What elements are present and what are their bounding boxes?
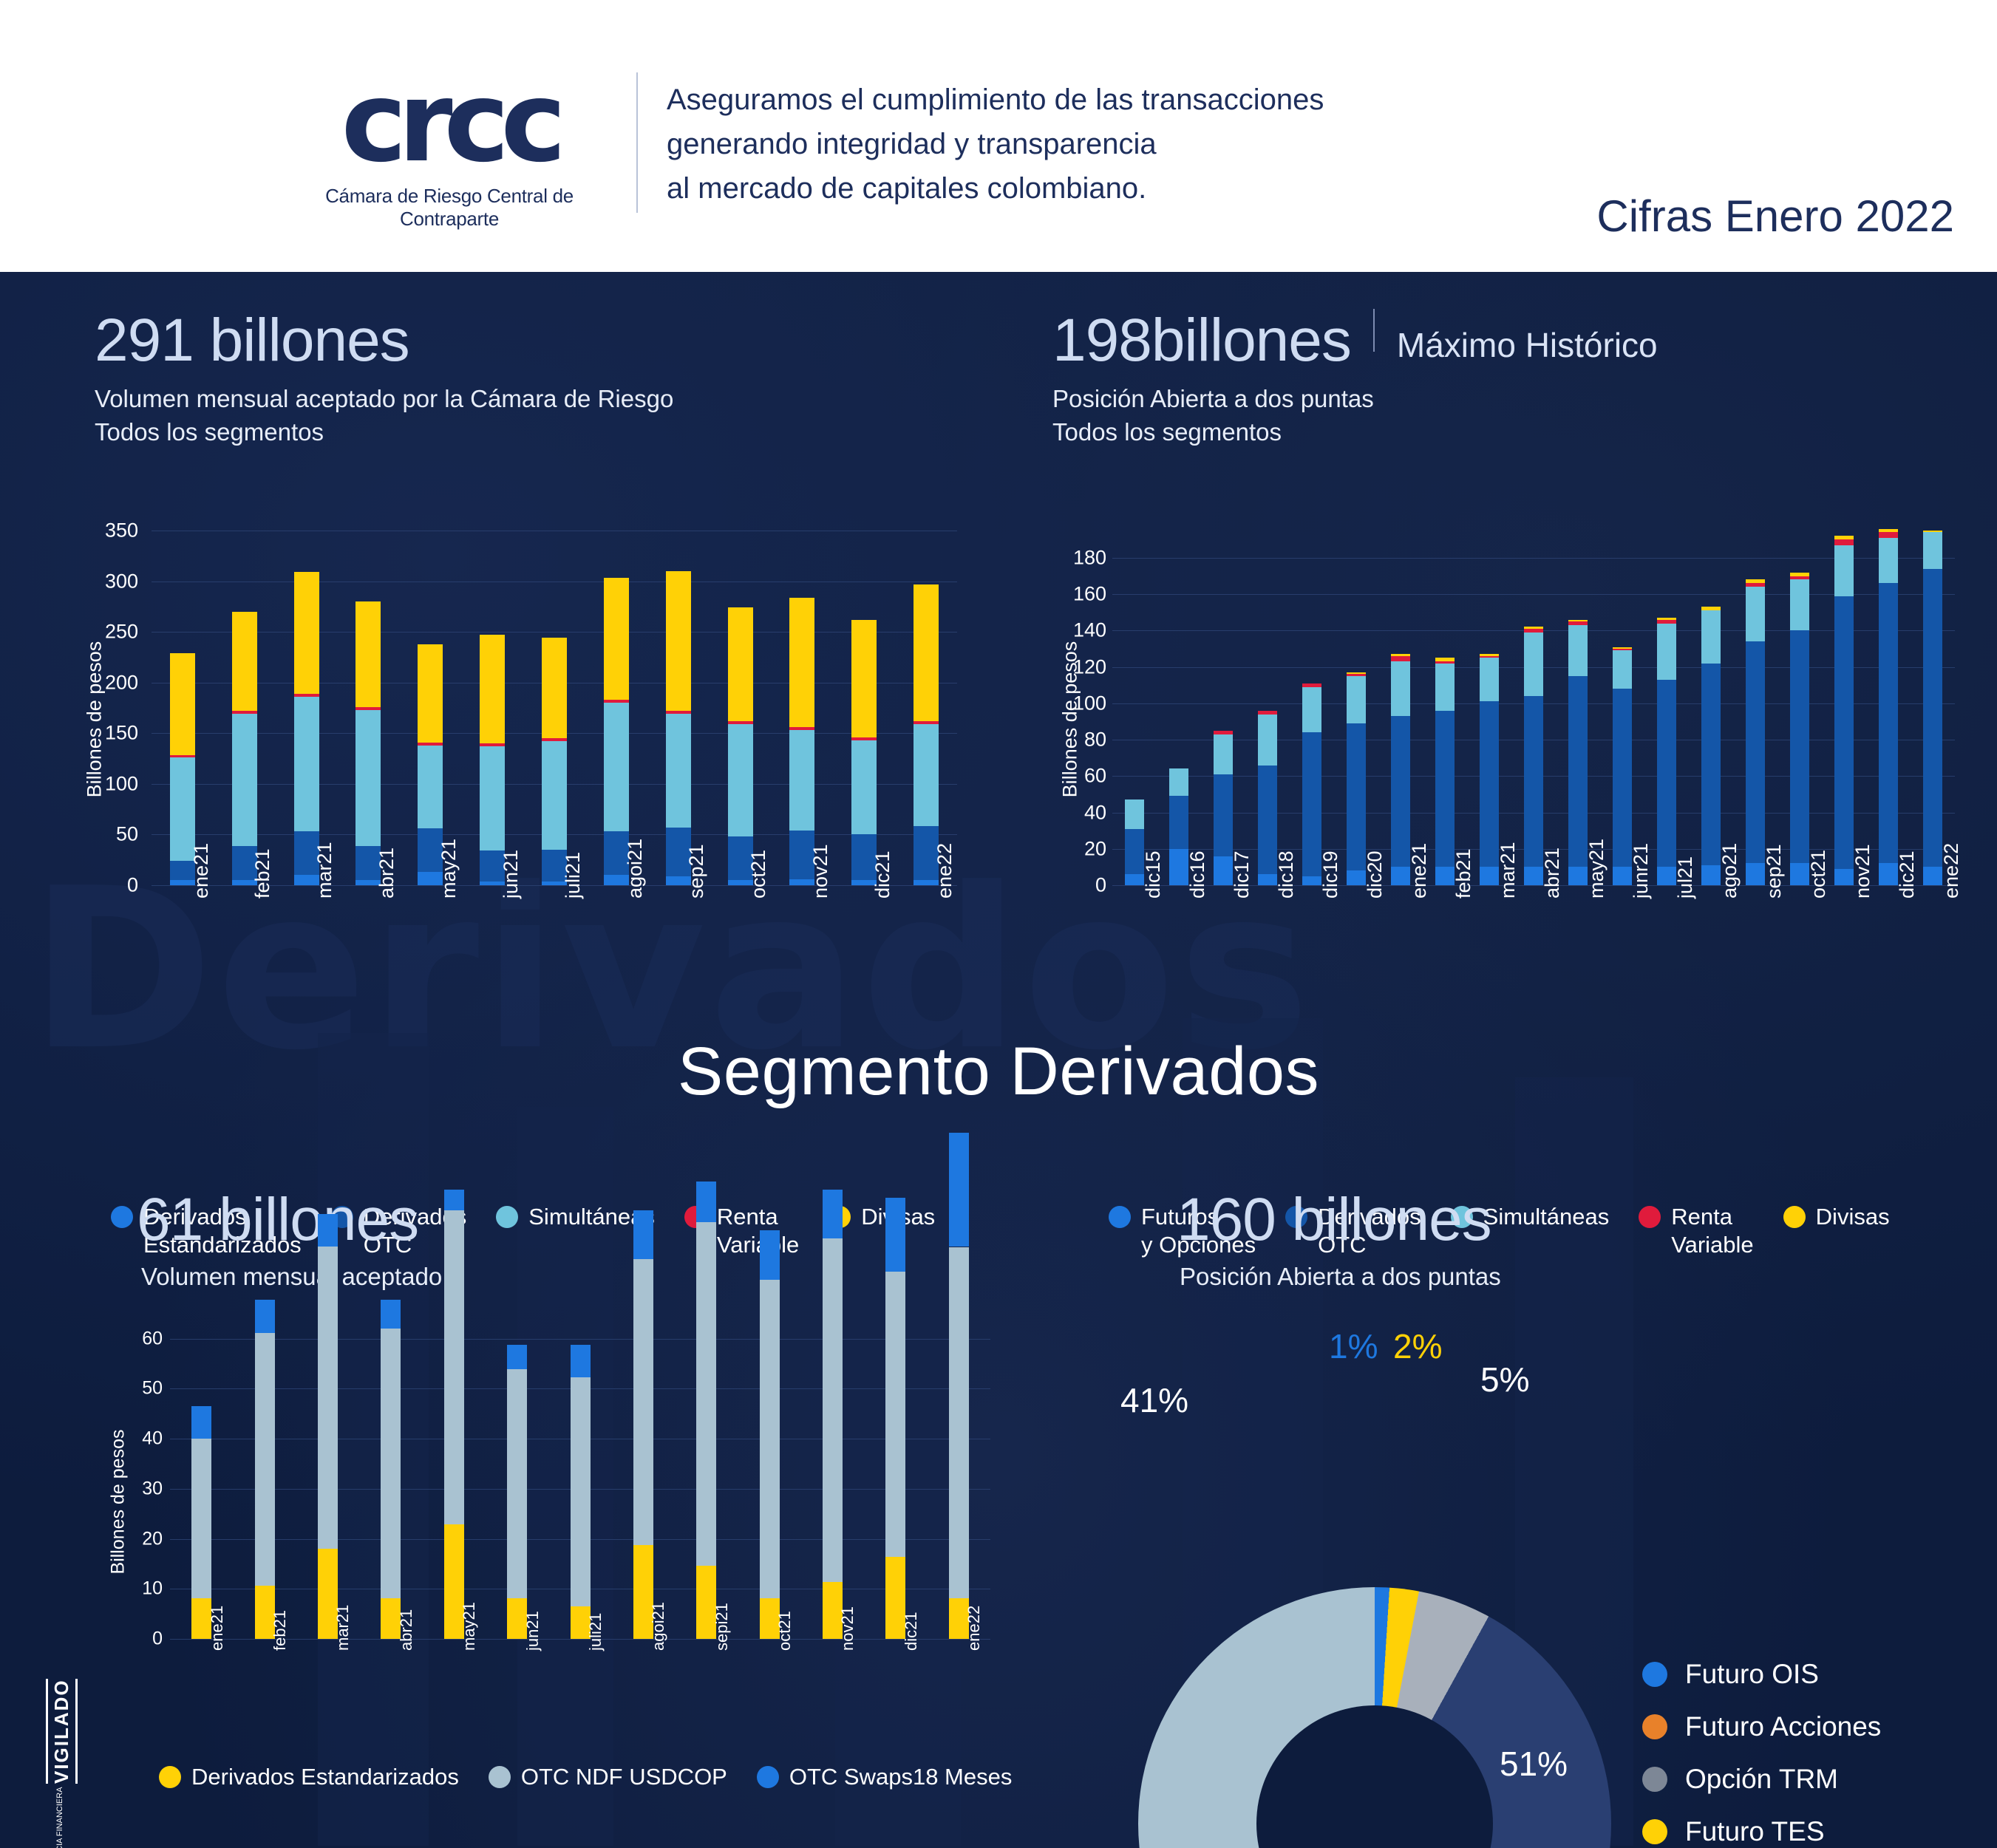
- vigilado-small-line-1: SUPERINTENDENCIA FINANCIERA: [55, 1787, 64, 1848]
- tagline-line-3: al mercado de capitales colombiano.: [667, 166, 1406, 211]
- legend-item[interactable]: Futuro OIS: [1642, 1657, 1931, 1691]
- x-axis-label: may21: [1585, 839, 1608, 899]
- bar-ene22: [914, 531, 939, 885]
- bar-segment: [381, 1300, 401, 1329]
- bar-segment: [728, 721, 753, 724]
- legend-swatch-icon: [757, 1766, 779, 1788]
- legend-swatch-icon: [1642, 1714, 1667, 1739]
- legend-item-label: Futuro Acciones: [1685, 1710, 1881, 1743]
- x-axis-label: ene22: [965, 1606, 984, 1651]
- x-axis-label: mar21: [1497, 842, 1520, 899]
- bar-segment: [885, 1272, 905, 1558]
- panel2-value: 198billones: [1052, 309, 1351, 372]
- bar-segment: [633, 1259, 653, 1545]
- bar-segment: [1834, 596, 1854, 869]
- bar-segment: [255, 1300, 275, 1332]
- legend-item[interactable]: Simultáneas: [496, 1203, 655, 1231]
- bar-segment: [318, 1214, 338, 1247]
- y-tick-label: 50: [116, 823, 138, 846]
- bar-segment: [542, 741, 567, 850]
- bar-dic15: [1125, 531, 1144, 885]
- header-divider: [636, 72, 638, 213]
- y-tick-label: 50: [142, 1378, 163, 1399]
- x-axis-label: feb21: [1452, 848, 1475, 899]
- bar-segment: [1258, 715, 1277, 766]
- x-axis-label: oct21: [775, 1611, 795, 1651]
- legend-swatch-icon: [1783, 1206, 1806, 1228]
- legend-item[interactable]: Opción TRM: [1642, 1762, 1931, 1796]
- bar-segment: [696, 1182, 716, 1222]
- chart-derivados-posicion-donut: [1138, 1587, 1611, 1848]
- legend-swatch-icon: [1109, 1206, 1131, 1228]
- legend-swatch-icon: [1639, 1206, 1661, 1228]
- bar-dic20: [1347, 531, 1366, 885]
- legend-swatch-icon: [489, 1766, 511, 1788]
- bar-segment: [294, 694, 319, 697]
- bar-segment: [1524, 633, 1543, 696]
- bar-feb21: [255, 1329, 275, 1639]
- bar-segment: [1480, 656, 1499, 658]
- x-axis-label: dic16: [1186, 850, 1209, 899]
- y-tick-label: 30: [142, 1478, 163, 1499]
- bar-segment: [1524, 629, 1543, 633]
- legend-item-label: Renta Variable: [717, 1203, 799, 1259]
- bar-segment: [1879, 529, 1898, 533]
- bar-segment: [851, 620, 877, 737]
- bar-segment: [418, 644, 443, 743]
- bar-segment: [1391, 661, 1410, 716]
- legend-item-label: Simultáneas: [1483, 1203, 1610, 1231]
- bar-segment: [1657, 624, 1676, 680]
- bar-segment: [666, 711, 691, 714]
- chart-posicion-abierta-todos-segmentos: Billones de pesos 0204060801001201401601…: [1020, 523, 1973, 937]
- bar-segment: [1125, 799, 1144, 828]
- panel2-badge: Máximo Histórico: [1397, 325, 1658, 365]
- x-axis-label: ene22: [1940, 843, 1963, 899]
- bar-segment: [294, 572, 319, 694]
- bar-segment: [760, 1230, 780, 1279]
- legend-item-label: Futuro OIS: [1685, 1657, 1819, 1691]
- legend-item-label: Derivados Estandarizados: [191, 1763, 459, 1791]
- bar-segment: [1790, 630, 1809, 863]
- bar-ene21: [170, 531, 195, 885]
- y-tick-label: 180: [1073, 546, 1106, 569]
- bar-segment: [1391, 656, 1410, 661]
- segment-title: Segmento Derivados: [0, 1033, 1997, 1111]
- bar-segment: [1879, 538, 1898, 584]
- header-tagline: Aseguramos el cumplimiento de las transa…: [667, 78, 1406, 211]
- x-axis-label: oct21: [747, 850, 770, 899]
- bar-segment: [1302, 683, 1321, 687]
- x-axis-label: nov21: [838, 1606, 857, 1651]
- legend-swatch-icon: [496, 1206, 518, 1228]
- bar-segment: [1435, 658, 1455, 661]
- bar-segment: [1701, 610, 1721, 663]
- bar-segment: [1568, 625, 1588, 676]
- bar-jul21: [1657, 531, 1676, 885]
- bar-oct21: [728, 531, 753, 885]
- y-tick-label: 60: [1084, 765, 1106, 788]
- y-tick-label: 300: [105, 570, 138, 593]
- x-axis-label: mar21: [333, 1605, 353, 1651]
- bar-may21: [1568, 531, 1588, 885]
- x-axis-label: dic20: [1364, 850, 1387, 899]
- gridline: [170, 1639, 990, 1640]
- bar-oct21: [1790, 531, 1809, 885]
- bar-segment: [728, 724, 753, 836]
- chart1-yaxis-title: Billones de pesos: [84, 616, 106, 823]
- vigilado-mark: SUPERINTENDENCIA FINANCIERA DE COLOMBIA …: [46, 1679, 78, 1848]
- panel2-sub-2: Todos los segmentos: [1052, 416, 1658, 449]
- x-axis-label: dic15: [1142, 850, 1165, 899]
- bar-nov21: [1834, 531, 1854, 885]
- bar-nov21: [789, 531, 814, 885]
- bar-ene22: [1923, 531, 1942, 885]
- legend-item[interactable]: Futuro TES: [1642, 1815, 1931, 1848]
- bar-segment: [666, 571, 691, 711]
- chart3-legend: Derivados EstandarizadosOTC NDF USDCOPOT…: [159, 1763, 1083, 1791]
- bar-mar21: [294, 531, 319, 885]
- y-tick-label: 20: [142, 1528, 163, 1549]
- bar-segment: [604, 700, 629, 703]
- y-tick-label: 200: [105, 671, 138, 694]
- x-axis-label: jun21: [500, 850, 523, 899]
- bar-segment: [507, 1345, 527, 1369]
- y-tick-label: 40: [1084, 801, 1106, 824]
- bar-segment: [1480, 654, 1499, 655]
- bar-abr21: [1524, 531, 1543, 885]
- bar-mar21: [318, 1329, 338, 1639]
- x-axis-label: juli21: [586, 1613, 605, 1651]
- bar-segment: [418, 746, 443, 828]
- tagline-line-2: generando integridad y transparencia: [667, 122, 1406, 166]
- bar-junr21: [1613, 531, 1632, 885]
- x-axis-label: abr21: [1541, 848, 1564, 899]
- x-axis-label: may21: [460, 1602, 479, 1651]
- bar-segment: [170, 653, 195, 756]
- x-axis-label: dic21: [871, 850, 894, 899]
- panel3-sub-1: Volumen mensual aceptado: [141, 1261, 442, 1294]
- bar-segment: [255, 1333, 275, 1586]
- bar-dic21: [1879, 531, 1898, 885]
- x-axis-label: abr21: [375, 848, 398, 899]
- bar-segment: [1746, 583, 1765, 587]
- x-axis-label: feb21: [271, 1610, 290, 1651]
- bar-segment: [604, 578, 629, 700]
- panel2-separator: [1373, 309, 1375, 352]
- bar-nov21: [823, 1329, 843, 1639]
- bar-dic18: [1258, 531, 1277, 885]
- bar-segment: [1657, 620, 1676, 624]
- y-tick-label: 80: [1084, 729, 1106, 751]
- bar-segment: [571, 1345, 591, 1377]
- bar-segment: [191, 1439, 211, 1598]
- bar-segment: [480, 746, 505, 850]
- x-axis-label: oct21: [1807, 850, 1830, 899]
- x-axis-label: nov21: [1851, 844, 1874, 899]
- x-axis-label: dic18: [1275, 850, 1298, 899]
- bar-mar21: [1480, 531, 1499, 885]
- legend-item[interactable]: OTC NDF USDCOP: [489, 1763, 727, 1791]
- bar-segment: [1923, 531, 1942, 532]
- bar-segment: [170, 755, 195, 757]
- chart2-yaxis-title: Billones de pesos: [1059, 616, 1082, 823]
- bar-segment: [1347, 676, 1366, 723]
- bar-sep21: [666, 531, 691, 885]
- y-tick-label: 100: [105, 772, 138, 795]
- bar-segment: [1347, 672, 1366, 674]
- bar-abr21: [381, 1329, 401, 1639]
- bar-dic16: [1169, 531, 1188, 885]
- tagline-line-1: Aseguramos el cumplimiento de las transa…: [667, 78, 1406, 122]
- donut-percent-label: 51%: [1500, 1744, 1568, 1784]
- x-axis-label: dic21: [1896, 850, 1919, 899]
- crcc-logo: crcc Cámara de Riesgo Central de Contrap…: [279, 70, 619, 231]
- logo-wordmark: crcc: [279, 70, 619, 176]
- x-axis-label: dic17: [1231, 850, 1253, 899]
- bar-segment: [1613, 650, 1632, 689]
- legend-item[interactable]: Divisas: [829, 1203, 935, 1231]
- legend-item[interactable]: Renta Variable: [1639, 1203, 1753, 1259]
- bar-segment: [355, 710, 381, 846]
- bar-feb21: [232, 531, 257, 885]
- y-tick-label: 160: [1073, 583, 1106, 606]
- x-axis-label: ene21: [190, 843, 213, 899]
- infographic-body: Derivados 291 billones Volumen mensual a…: [0, 272, 1997, 1848]
- legend-swatch-icon: [111, 1206, 133, 1228]
- bar-dic19: [1302, 531, 1321, 885]
- bar-agoi21: [604, 531, 629, 885]
- bar-segment: [1524, 627, 1543, 628]
- bar-segment: [1790, 579, 1809, 630]
- legend-item[interactable]: OTC Swaps18 Meses: [757, 1763, 1013, 1791]
- bar-segment: [914, 724, 939, 827]
- bar-segment: [355, 707, 381, 710]
- x-axis-label: jul21: [1674, 856, 1697, 899]
- bar-segment: [1834, 539, 1854, 545]
- bar-segment: [542, 738, 567, 741]
- chart3-yaxis-title: Billones de pesos: [108, 1399, 129, 1606]
- x-axis-label: dic19: [1319, 850, 1342, 899]
- x-axis-label: juli21: [562, 852, 585, 899]
- panel-derivados-volumen-heading: 61 billones Volumen mensual aceptado: [137, 1188, 442, 1294]
- bar-jun21: [507, 1329, 527, 1639]
- legend-item[interactable]: Divisas: [1783, 1203, 1890, 1231]
- bar-segment: [728, 607, 753, 721]
- x-axis-label: ene21: [1408, 843, 1431, 899]
- bar-segment: [444, 1190, 464, 1210]
- bar-sepi21: [696, 1329, 716, 1639]
- bar-segment: [480, 743, 505, 746]
- donut-legend: Futuro OISFuturo AccionesOpción TRMFutur…: [1642, 1657, 1931, 1848]
- panel2-sub-1: Posición Abierta a dos puntas: [1052, 383, 1658, 416]
- y-tick-label: 40: [142, 1428, 163, 1450]
- panel1-value: 291 billones: [95, 309, 673, 372]
- bar-segment: [232, 711, 257, 714]
- bar-segment: [1613, 647, 1632, 649]
- bar-segment: [1701, 607, 1721, 610]
- y-tick-label: 140: [1073, 619, 1106, 642]
- y-tick-label: 20: [1084, 837, 1106, 860]
- bar-segment: [1613, 689, 1632, 867]
- panel4-sub-1: Posición Abierta a dos puntas: [1180, 1261, 1501, 1294]
- legend-swatch-icon: [1642, 1819, 1667, 1844]
- bar-segment: [480, 635, 505, 743]
- x-axis-label: ago21: [1718, 843, 1741, 899]
- legend-item-label: OTC Swaps18 Meses: [789, 1763, 1013, 1791]
- bar-segment: [1879, 583, 1898, 863]
- bar-segment: [1790, 573, 1809, 576]
- x-axis-label: junr21: [1630, 843, 1653, 899]
- y-tick-label: 0: [1095, 874, 1106, 897]
- bar-segment: [1347, 723, 1366, 870]
- y-tick-label: 250: [105, 621, 138, 644]
- x-axis-label: may21: [438, 839, 460, 899]
- bar-segment: [1746, 641, 1765, 863]
- y-tick-label: 0: [127, 874, 138, 897]
- bar-sep21: [1746, 531, 1765, 885]
- bar-dic21: [851, 531, 877, 885]
- bar-segment: [914, 721, 939, 724]
- bar-segment: [1480, 658, 1499, 701]
- bar-segment: [696, 1222, 716, 1565]
- y-tick-label: 60: [142, 1328, 163, 1349]
- donut-percent-label: 1%: [1329, 1326, 1378, 1366]
- bar-segment: [1435, 661, 1455, 663]
- bar-segment: [232, 612, 257, 711]
- bar-may21: [418, 531, 443, 885]
- bar-segment: [949, 1247, 969, 1598]
- bar-segment: [789, 727, 814, 730]
- bar-segment: [789, 730, 814, 831]
- bar-segment: [1746, 587, 1765, 641]
- bar-segment: [823, 1190, 843, 1238]
- bar-abr21: [355, 531, 381, 885]
- x-axis-label: agoi21: [649, 1602, 668, 1651]
- bar-juli21: [542, 531, 567, 885]
- x-axis-label: feb21: [251, 848, 274, 899]
- bar-jun21: [480, 531, 505, 885]
- bar-segment: [1746, 579, 1765, 583]
- bar-agoi21: [633, 1329, 653, 1639]
- y-tick-label: 150: [105, 722, 138, 745]
- y-tick-label: 100: [1073, 692, 1106, 715]
- bar-segment: [851, 740, 877, 835]
- y-tick-label: 10: [142, 1578, 163, 1600]
- bar-segment: [1169, 768, 1188, 796]
- bar-segment: [823, 1238, 843, 1581]
- bar-segment: [1435, 711, 1455, 867]
- bar-segment: [851, 737, 877, 740]
- panel4-value: 160 billones: [1177, 1188, 1501, 1252]
- bar-segment: [1790, 576, 1809, 580]
- bar-segment: [1169, 796, 1188, 848]
- bar-segment: [571, 1377, 591, 1606]
- bar-oct21: [760, 1329, 780, 1639]
- x-axis-label: nov21: [809, 844, 832, 899]
- bar-segment: [1613, 649, 1632, 650]
- panel-posicion-abierta-heading: 198billones Máximo Histórico Posición Ab…: [1052, 309, 1658, 449]
- y-tick-label: 0: [152, 1629, 163, 1650]
- bar-segment: [1879, 532, 1898, 537]
- bar-segment: [1524, 696, 1543, 867]
- bar-segment: [1657, 680, 1676, 867]
- page-header: crcc Cámara de Riesgo Central de Contrap…: [0, 0, 1997, 272]
- x-axis-label: mar21: [313, 842, 336, 899]
- bar-segment: [507, 1369, 527, 1598]
- bar-segment: [1568, 621, 1588, 625]
- bar-juli21: [571, 1329, 591, 1639]
- bar-segment: [1435, 664, 1455, 711]
- bar-segment: [666, 714, 691, 828]
- legend-item-label: Renta Variable: [1671, 1203, 1753, 1259]
- legend-item-label: OTC NDF USDCOP: [521, 1763, 727, 1791]
- bar-segment: [294, 697, 319, 831]
- bar-segment: [1834, 545, 1854, 596]
- bar-ago21: [1701, 531, 1721, 885]
- vigilado-big-text: VIGILADO: [46, 1679, 78, 1784]
- legend-item-label: Divisas: [1816, 1203, 1890, 1231]
- bar-segment: [1923, 569, 1942, 867]
- bar-segment: [1923, 532, 1942, 568]
- bar-feb21: [1435, 531, 1455, 885]
- bar-segment: [760, 1280, 780, 1598]
- donut-percent-label: 2%: [1393, 1326, 1442, 1366]
- vigilado-small-text: SUPERINTENDENCIA FINANCIERA DE COLOMBIA: [55, 1787, 74, 1848]
- bar-segment: [1657, 618, 1676, 619]
- donut-percent-label: 5%: [1480, 1360, 1529, 1399]
- report-title: Cifras Enero 2022: [1596, 191, 1954, 242]
- bar-segment: [1834, 536, 1854, 539]
- logo-subtitle: Cámara de Riesgo Central de Contraparte: [279, 185, 619, 231]
- bar-segment: [1391, 654, 1410, 655]
- bar-segment: [949, 1133, 969, 1247]
- bar-segment: [1258, 711, 1277, 715]
- panel3-value: 61 billones: [137, 1188, 442, 1252]
- bar-segment: [444, 1210, 464, 1525]
- legend-item[interactable]: Derivados Estandarizados: [159, 1763, 459, 1791]
- bar-segment: [1701, 664, 1721, 865]
- bar-dic21: [885, 1329, 905, 1639]
- legend-swatch-icon: [1642, 1767, 1667, 1792]
- legend-item-label: Futuro TES: [1685, 1815, 1825, 1848]
- bar-segment: [318, 1247, 338, 1549]
- x-axis-label: sepi21: [712, 1603, 732, 1651]
- bar-segment: [1347, 674, 1366, 675]
- x-axis-label: ene21: [208, 1606, 227, 1651]
- panel-derivados-posicion-heading: 160 billones Posición Abierta a dos punt…: [1177, 1188, 1501, 1294]
- bar-may21: [444, 1329, 464, 1639]
- bar-segment: [1214, 774, 1233, 856]
- bar-segment: [885, 1198, 905, 1271]
- x-axis-label: dic21: [902, 1612, 921, 1651]
- x-axis-label: jun21: [523, 1611, 542, 1651]
- bar-segment: [232, 714, 257, 845]
- x-axis-label: abr21: [397, 1609, 416, 1651]
- bar-segment: [191, 1406, 211, 1439]
- legend-item-label: Opción TRM: [1685, 1762, 1838, 1796]
- bar-segment: [1214, 731, 1233, 734]
- bar-ene21: [191, 1329, 211, 1639]
- bar-segment: [418, 743, 443, 746]
- x-axis-label: ene22: [933, 843, 956, 899]
- bar-ene22: [949, 1329, 969, 1639]
- legend-item[interactable]: Futuro Acciones: [1642, 1710, 1931, 1743]
- panel-volumen-mensual-heading: 291 billones Volumen mensual aceptado po…: [95, 309, 673, 449]
- bar-ene21: [1391, 531, 1410, 885]
- chart1-plot-area: [152, 531, 957, 885]
- chart2-plot-area: [1112, 531, 1955, 885]
